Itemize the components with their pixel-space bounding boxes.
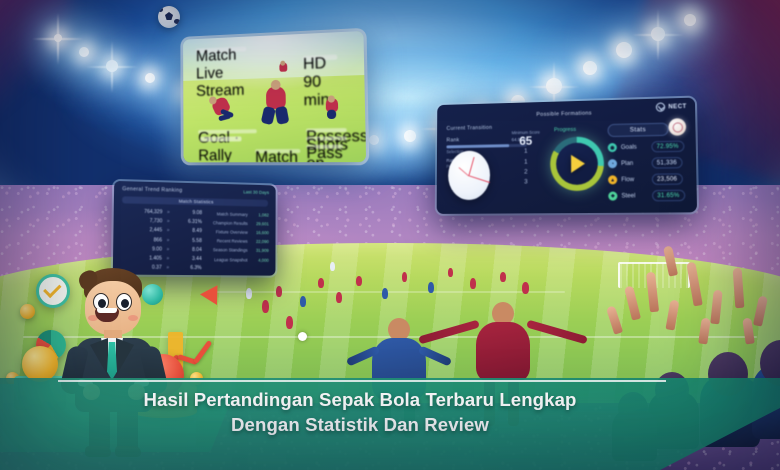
- stat-row[interactable]: ▲Flow23,506: [608, 173, 682, 185]
- score-column: Minimum Score 65 1123: [511, 130, 540, 188]
- lens-flare: [657, 9, 659, 61]
- panel-player-left: [207, 94, 235, 124]
- pitch-player: [522, 282, 529, 294]
- table-row[interactable]: 866»5.58Recent Reviews22,090: [121, 236, 268, 244]
- match-highlight-panel[interactable]: Match Live Stream HD 90 min Goal · Rally…: [183, 31, 366, 162]
- table-cell-rate: 9.08: [174, 210, 202, 217]
- stats-dashboard-panel[interactable]: NECT Current Transition Possible Formati…: [437, 98, 697, 214]
- table-cell-label: Season Standings: [202, 247, 248, 253]
- seal-badge-icon: [668, 118, 686, 136]
- score-list-item: 1: [511, 157, 540, 167]
- stat-name: Plan: [621, 160, 648, 167]
- stat-name: Flow: [621, 176, 648, 182]
- table-cell-sep: »: [162, 246, 174, 252]
- table-row[interactable]: 9.00»8.04Season Standings31,909: [121, 246, 268, 254]
- pitch-player: [336, 292, 342, 303]
- brand-label: NECT: [668, 103, 687, 110]
- stat-name: Goals: [621, 144, 647, 151]
- progress-label: Progress: [554, 127, 576, 133]
- table-cell-sep: »: [162, 228, 174, 234]
- globe-icon: ◉: [608, 143, 617, 152]
- clock-icon: ◔: [608, 159, 617, 168]
- table-cell-sep: »: [162, 219, 174, 225]
- dash-header-left: Current Transition: [446, 125, 492, 132]
- coin-icon-1: [20, 304, 35, 319]
- table-cell-value: 866: [121, 236, 162, 243]
- table-cell-value: 2,445: [122, 227, 163, 234]
- pitch-player: [246, 288, 252, 299]
- stats-pill-header[interactable]: Stats: [608, 123, 669, 137]
- soccer-ball-icon: [158, 6, 180, 28]
- table-badge: Last 30 Days: [243, 189, 269, 195]
- floodlight: [404, 130, 416, 142]
- play-icon[interactable]: [571, 155, 585, 173]
- table-cell-score: 4,000: [248, 257, 269, 262]
- table-subheader: Match Statistics: [122, 196, 268, 206]
- pitch-player: [300, 296, 306, 307]
- pitch-player: [286, 316, 293, 329]
- score-list-item: 2: [511, 167, 540, 177]
- pitch-player: [402, 272, 407, 282]
- table-row[interactable]: 2,445»8.49Fixture Overview16,600: [122, 227, 269, 236]
- table-cell-score: 22,090: [248, 239, 269, 244]
- panel-caption-bottom-center: Match Highlights: [255, 149, 300, 153]
- pitch-player: [330, 262, 335, 271]
- table-cell-rate: 8.04: [174, 246, 202, 252]
- table-cell-score: 29,601: [248, 221, 269, 226]
- page-title-line-1: Hasil Pertandingan Sepak Bola Terbaru Le…: [60, 388, 660, 413]
- table-cell-label: Champion Results: [202, 220, 248, 226]
- table-cell-value: 764,329: [122, 208, 163, 215]
- brand-mark-icon: [656, 102, 665, 111]
- hero-graphic: Match Live Stream HD 90 min Goal · Rally…: [0, 0, 780, 470]
- floodlight: [79, 47, 89, 57]
- stat-value: 72.95%: [651, 141, 684, 153]
- stat-row[interactable]: ❖Steel31.65%: [608, 190, 685, 202]
- stat-row[interactable]: ◔Plan51,336: [608, 157, 682, 169]
- stats-pill-label: Stats: [630, 126, 646, 133]
- shield-icon: ❖: [608, 191, 617, 200]
- panel-caption-mid-left-2: [200, 136, 241, 141]
- yellow-sphere: [22, 346, 58, 382]
- table-row[interactable]: 764,329»9.08Match Summary1,082: [122, 208, 269, 217]
- stat-value: 23,506: [652, 173, 683, 185]
- table-cell-score: 31,909: [248, 248, 269, 253]
- table-cell-score: 16,600: [248, 230, 269, 235]
- table-cell-value: 7,730: [122, 218, 163, 225]
- stat-row[interactable]: ◉Goals72.95%: [608, 141, 684, 154]
- pitch-player: [500, 272, 506, 282]
- lens-flare: [111, 41, 113, 93]
- score-big: 65: [511, 135, 540, 147]
- match-ball: [298, 332, 307, 341]
- page-title: Hasil Pertandingan Sepak Bola Terbaru Le…: [60, 388, 660, 438]
- panel-player-far: [277, 60, 289, 76]
- table-cell-value: 1.405: [121, 255, 162, 262]
- table-cell-rate: 8.49: [174, 228, 202, 234]
- table-cell-sep: »: [162, 237, 174, 243]
- progress-donut[interactable]: [550, 136, 604, 191]
- floodlight: [684, 14, 696, 26]
- score-list-item: 1: [511, 147, 540, 157]
- brand-logo: NECT: [656, 102, 687, 112]
- title-banner-rule: [58, 380, 666, 382]
- table-cell-rate: 6.31%: [174, 219, 202, 226]
- table-cell-label: Recent Reviews: [202, 238, 248, 244]
- pitch-player: [448, 268, 453, 277]
- pitch-player: [262, 300, 269, 313]
- pitch-player: [382, 288, 388, 299]
- lens-flare: [57, 13, 59, 65]
- table-cell-value: 9.00: [121, 246, 162, 253]
- score-list: 1123: [511, 147, 540, 187]
- trend-arrow-head: [200, 280, 226, 305]
- table-cell-label: Fixture Overview: [202, 229, 248, 235]
- floodlight: [583, 61, 597, 75]
- panel-caption-br-3: Pass Accuracy: [306, 145, 343, 149]
- radial-gauge: [448, 150, 490, 200]
- table-cell-label: Match Summary: [202, 211, 248, 217]
- panel-caption-br-2: Shots on Target: [306, 136, 347, 141]
- table-cell-rate: 5.58: [174, 237, 202, 243]
- trend-seg-5: [193, 340, 212, 364]
- stat-value: 51,336: [652, 157, 683, 169]
- panel-player-center: [258, 78, 296, 127]
- pitch-player: [318, 278, 324, 288]
- floodlight: [369, 135, 379, 145]
- bar-label: Rank: [446, 137, 459, 143]
- pitch-player: [276, 286, 282, 297]
- dash-header-center: Possible Formations: [536, 111, 592, 118]
- page-title-line-2: Dengan Statistik Dan Review: [60, 413, 660, 438]
- panel-caption-mid-left: Goal · Rally: [198, 129, 257, 134]
- floodlight: [616, 42, 632, 58]
- table-subheader-label: Match Statistics: [179, 199, 214, 205]
- table-title: General Trend Ranking: [122, 186, 182, 194]
- floodlight: [145, 73, 155, 83]
- stat-rows: ◉Goals72.95%◔Plan51,336▲Flow23,506❖Steel…: [445, 104, 687, 111]
- pitch-player: [356, 276, 362, 286]
- pitch-player: [470, 278, 476, 289]
- table-cell-score: 1,082: [248, 212, 269, 217]
- table-row[interactable]: 7,730»6.31%Champion Results29,601: [122, 218, 269, 227]
- flame-icon: ▲: [608, 175, 617, 184]
- table-cell-sep: »: [162, 209, 174, 215]
- stat-value: 31.65%: [652, 190, 685, 202]
- stat-name: Steel: [621, 193, 648, 199]
- pitch-player: [428, 282, 434, 293]
- panel-player-right: [322, 95, 345, 120]
- score-list-item: 3: [511, 177, 540, 187]
- panel-caption-br-1: Possession: [306, 128, 347, 133]
- table-cell-sep: »: [162, 256, 174, 262]
